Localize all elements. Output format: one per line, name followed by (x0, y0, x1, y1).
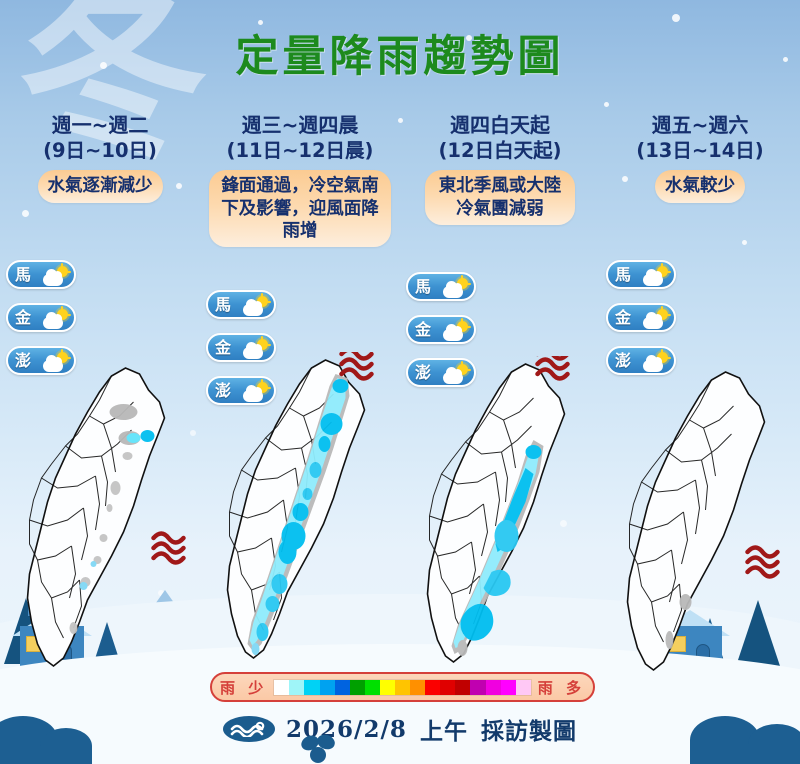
wind-wave-symbol (154, 534, 184, 563)
column-dates: (9日~10日) (0, 138, 200, 164)
cwa-wave-logo-icon (223, 716, 275, 742)
legend-left-label: 雨 少 (220, 677, 267, 698)
island-label: 馬 (15, 267, 31, 283)
island-badge-kinmen[interactable]: 金 (606, 303, 676, 332)
island-label: 金 (615, 310, 631, 326)
island-badge-kinmen[interactable]: 金 (406, 315, 476, 344)
column-description: 東北季風或大陸冷氣團減弱 (425, 170, 575, 225)
column-period: 週五~週六 (600, 112, 800, 138)
sun-behind-cloud-icon (443, 277, 469, 299)
legend-swatch (335, 680, 350, 695)
page-title: 定量降雨趨勢圖 (0, 22, 800, 84)
column-period: 週三~週四晨 (200, 112, 400, 138)
island-label: 馬 (415, 279, 431, 295)
island-badge-matsu[interactable]: 馬 (606, 260, 676, 289)
footer-credit: 採訪製圖 (481, 712, 577, 746)
column-header-2: 週三~週四晨 (11日~12日晨) (200, 112, 400, 164)
sun-behind-cloud-icon (643, 308, 669, 330)
legend-swatch (320, 680, 335, 695)
forecast-columns: 週一~週二 (9日~10日) 水氣逐漸減少 馬 金 (0, 112, 800, 712)
legend-swatch (470, 680, 485, 695)
column-period: 週一~週二 (0, 112, 200, 138)
column-dates: (13日~14日) (600, 138, 800, 164)
wind-wave-symbol (342, 352, 372, 379)
legend-swatch (304, 680, 319, 695)
legend-swatch (425, 680, 440, 695)
column-header-4: 週五~週六 (13日~14日) (600, 112, 800, 164)
taiwan-rainfall-map-3 (408, 356, 593, 686)
column-dates: (12日白天起) (400, 138, 600, 164)
column-description: 水氣較少 (655, 170, 745, 202)
rainfall-legend: 雨 少 雨 多 (210, 672, 595, 702)
island-badge-matsu[interactable]: 馬 (406, 272, 476, 301)
footer: 2026/2/8 上午 採訪製圖 (0, 712, 800, 746)
taiwan-rainfall-map-4 (608, 364, 793, 694)
legend-swatch (380, 680, 395, 695)
column-header-3: 週四白天起 (12日白天起) (400, 112, 600, 164)
sun-behind-cloud-icon (643, 265, 669, 287)
legend-swatch (350, 680, 365, 695)
island-label: 馬 (215, 297, 231, 313)
sun-behind-cloud-icon (243, 295, 269, 317)
column-description: 鋒面通過，冷空氣南下及影響，迎風面降雨增 (209, 170, 391, 247)
snow-dot (672, 14, 680, 22)
island-badge-kinmen[interactable]: 金 (6, 303, 76, 332)
legend-swatch (501, 680, 516, 695)
island-label: 金 (415, 322, 431, 338)
legend-swatch (410, 680, 425, 695)
island-badge-matsu[interactable]: 馬 (6, 260, 76, 289)
taiwan-rainfall-map-1 (8, 360, 193, 690)
legend-swatch (395, 680, 410, 695)
legend-swatch (455, 680, 470, 695)
island-badge-matsu[interactable]: 馬 (206, 290, 276, 319)
legend-swatch (365, 680, 380, 695)
legend-swatch (486, 680, 501, 695)
snow-dot (604, 102, 609, 107)
legend-swatch (289, 680, 304, 695)
wind-wave-symbol (748, 548, 778, 577)
legend-right-label: 雨 多 (538, 677, 585, 698)
forecast-column-3: 週四白天起 (12日白天起) 東北季風或大陸冷氣團減弱 馬 金 (400, 112, 600, 712)
forecast-column-1: 週一~週二 (9日~10日) 水氣逐漸減少 馬 金 (0, 112, 200, 712)
legend-swatch (516, 680, 531, 695)
forecast-column-4: 週五~週六 (13日~14日) 水氣較少 馬 金 (600, 112, 800, 712)
sun-behind-cloud-icon (443, 320, 469, 342)
column-header-1: 週一~週二 (9日~10日) (0, 112, 200, 164)
column-dates: (11日~12日晨) (200, 138, 400, 164)
legend-color-scale (273, 679, 532, 696)
taiwan-rainfall-map-2 (208, 352, 393, 682)
sun-behind-cloud-icon (43, 308, 69, 330)
column-description: 水氣逐漸減少 (38, 170, 163, 202)
island-label: 馬 (615, 267, 631, 283)
flower-decoration (300, 731, 338, 763)
legend-swatch (274, 680, 289, 695)
island-label: 金 (15, 310, 31, 326)
sun-behind-cloud-icon (43, 265, 69, 287)
column-period: 週四白天起 (400, 112, 600, 138)
legend-swatch (440, 680, 455, 695)
forecast-column-2: 週三~週四晨 (11日~12日晨) 鋒面通過，冷空氣南下及影響，迎風面降雨增 馬… (200, 112, 400, 712)
footer-period: 上午 (420, 712, 468, 746)
